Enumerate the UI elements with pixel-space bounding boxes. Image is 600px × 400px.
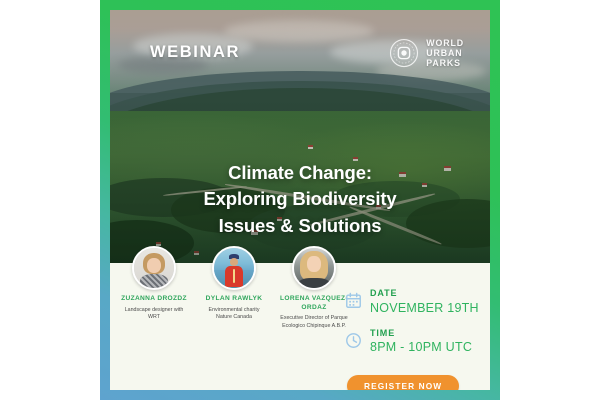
logo-line-3: PARKS — [426, 58, 461, 68]
world-urban-parks-emblem-icon — [389, 38, 419, 68]
face-shape — [230, 258, 239, 266]
event-details: DATE NOVEMBER 19TH — [345, 289, 490, 368]
avatar — [212, 246, 256, 290]
date-row: DATE NOVEMBER 19TH — [345, 289, 490, 317]
logo-wordmark: WORLD URBAN PARKS — [426, 38, 464, 68]
speaker-name: DYLAN RAWLYK — [198, 295, 270, 304]
torso-shape — [140, 274, 169, 290]
poster-screenshot: WEBINAR WORLD URBAN PARKS — [0, 0, 600, 400]
page-title: Climate Change: Exploring Biodiversity I… — [110, 160, 490, 239]
calendar-icon — [345, 292, 362, 309]
speaker-role: Executive Director of Parque Ecologico C… — [278, 315, 350, 330]
date-value: NOVEMBER 19TH — [370, 301, 479, 317]
speaker-photo-zuzanna — [134, 248, 174, 288]
logo-line-1: WORLD — [426, 38, 464, 48]
headline-line-3: Issues & Solutions — [128, 213, 472, 239]
torso-shape — [298, 278, 330, 290]
time-value: 8PM - 10PM UTC — [370, 340, 472, 356]
speaker-item: DYLAN RAWLYK Environmental charity Natur… — [198, 246, 270, 330]
speaker-role: Environmental charity Nature Canada — [198, 307, 270, 322]
register-now-button[interactable]: REGISTER NOW — [347, 375, 459, 390]
speaker-photo-lorena — [294, 248, 334, 288]
webinar-card: WEBINAR WORLD URBAN PARKS — [110, 10, 490, 390]
gradient-frame: WEBINAR WORLD URBAN PARKS — [100, 0, 500, 400]
speaker-item: ZUZANNA DROZDZ Landscape designer with W… — [118, 246, 190, 330]
webinar-kicker: WEBINAR — [150, 43, 240, 62]
speaker-name: LORENA VAZQUEZ-ORDAZ — [278, 295, 350, 312]
clock-icon — [345, 332, 362, 349]
time-text-group: TIME 8PM - 10PM UTC — [370, 329, 472, 357]
avatar — [132, 246, 176, 290]
time-row: TIME 8PM - 10PM UTC — [345, 329, 490, 357]
headline-line-1: Climate Change: — [128, 160, 472, 186]
brand-logo: WORLD URBAN PARKS — [389, 38, 464, 68]
face-shape — [147, 258, 161, 273]
speaker-role: Landscape designer with WRT — [118, 307, 190, 322]
face-shape — [307, 256, 321, 272]
speaker-name: ZUZANNA DROZDZ — [118, 295, 190, 304]
info-panel: ZUZANNA DROZDZ Landscape designer with W… — [110, 263, 490, 390]
date-label: DATE — [370, 289, 479, 299]
speaker-list: ZUZANNA DROZDZ Landscape designer with W… — [118, 246, 350, 330]
time-label: TIME — [370, 329, 472, 339]
headline-line-2: Exploring Biodiversity — [128, 186, 472, 212]
avatar — [292, 246, 336, 290]
logo-line-2: URBAN — [426, 48, 462, 58]
hero-image: WEBINAR WORLD URBAN PARKS — [110, 10, 490, 263]
speaker-photo-dylan — [214, 248, 254, 288]
date-text-group: DATE NOVEMBER 19TH — [370, 289, 479, 317]
speaker-item: LORENA VAZQUEZ-ORDAZ Executive Director … — [278, 246, 350, 330]
life-vest-shape — [225, 266, 243, 288]
